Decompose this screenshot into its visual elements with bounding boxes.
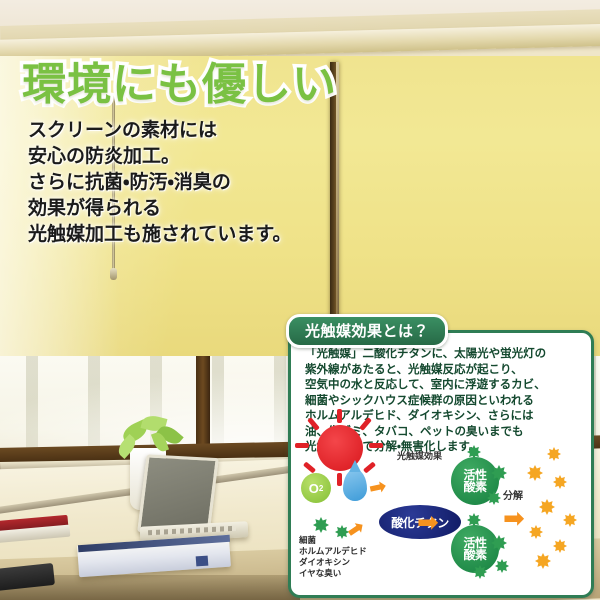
pollutant-label: イヤな臭い	[299, 568, 367, 579]
binder-label	[196, 556, 209, 567]
active-oxygen-line: 酸素	[463, 480, 486, 494]
panel-text-line: 紫外線があたると、光触媒反応が起こり、	[305, 363, 581, 379]
photocatalysis-diagram: O2 ➡ ➡ 酸化チタン ➡ 光触媒効果 活性 酸素 活性 酸素	[291, 443, 591, 593]
pollutant-label: 細菌	[299, 535, 367, 546]
arrow-icon: ➡	[503, 505, 525, 531]
panel-tab-title: 光触媒効果とは？	[286, 314, 448, 348]
oxygen-molecule-icon: O2	[301, 473, 331, 503]
blind-cord-tip	[110, 268, 117, 280]
panel-text-line: ホルムアルデヒド、ダイオキシン、さらには	[305, 409, 581, 425]
pollutant-label: ダイオキシン	[299, 557, 367, 568]
sun-ray-icon	[337, 409, 342, 423]
panel-text-line: 「光触媒」二酸化チタンに、太陽光や蛍光灯の	[305, 347, 581, 363]
sun-ray-icon	[369, 443, 383, 448]
sun-ray-icon	[303, 461, 316, 473]
body-copy: スクリーンの素材には 安心の防炎加工。 さらに抗菌・防汚・消臭の 効果が得られる…	[28, 118, 292, 248]
body-copy-line: 安心の防炎加工。	[28, 144, 292, 170]
sun-ray-icon	[337, 473, 342, 486]
panel-text-line: 細菌やシックハウス症候群の原因といわれる	[305, 394, 581, 410]
body-copy-line: 効果が得られる	[28, 196, 292, 222]
body-copy-line: スクリーンの素材には	[28, 118, 292, 144]
page-title: 環境にも優しい	[22, 48, 337, 112]
o2-subscript: 2	[319, 484, 323, 493]
arrow-icon: ➡	[367, 475, 389, 499]
active-oxygen-text: 活性 酸素	[463, 537, 486, 561]
body-copy-line: 光触媒加工も施されています。	[28, 222, 292, 248]
water-droplet-icon	[343, 469, 367, 501]
effect-label: 光触媒効果	[397, 449, 442, 462]
active-oxygen-line: 酸素	[463, 548, 486, 562]
panel-text-line: 空気中の水と反応して、室内に浮遊するカビ、	[305, 378, 581, 394]
arrow-icon: ➡	[417, 509, 439, 535]
info-panel: 「光触媒」二酸化チタンに、太陽光や蛍光灯の 紫外線があたると、光触媒反応が起こり…	[288, 330, 594, 598]
sun-ray-icon	[363, 461, 376, 473]
pollutant-label: ホルムアルデヒド	[299, 546, 367, 557]
advertisement-image: 環境にも優しい スクリーンの素材には 安心の防炎加工。 さらに抗菌・防汚・消臭の…	[0, 0, 600, 600]
body-copy-line: さらに抗菌・防汚・消臭の	[28, 170, 292, 196]
o2-label: O	[309, 481, 319, 496]
active-oxygen-text: 活性 酸素	[463, 469, 486, 493]
sun-ray-icon	[295, 443, 309, 448]
decompose-label: 分解	[503, 487, 523, 502]
pollutant-source-labels: 細菌 ホルムアルデヒド ダイオキシン イヤな臭い	[299, 535, 367, 579]
